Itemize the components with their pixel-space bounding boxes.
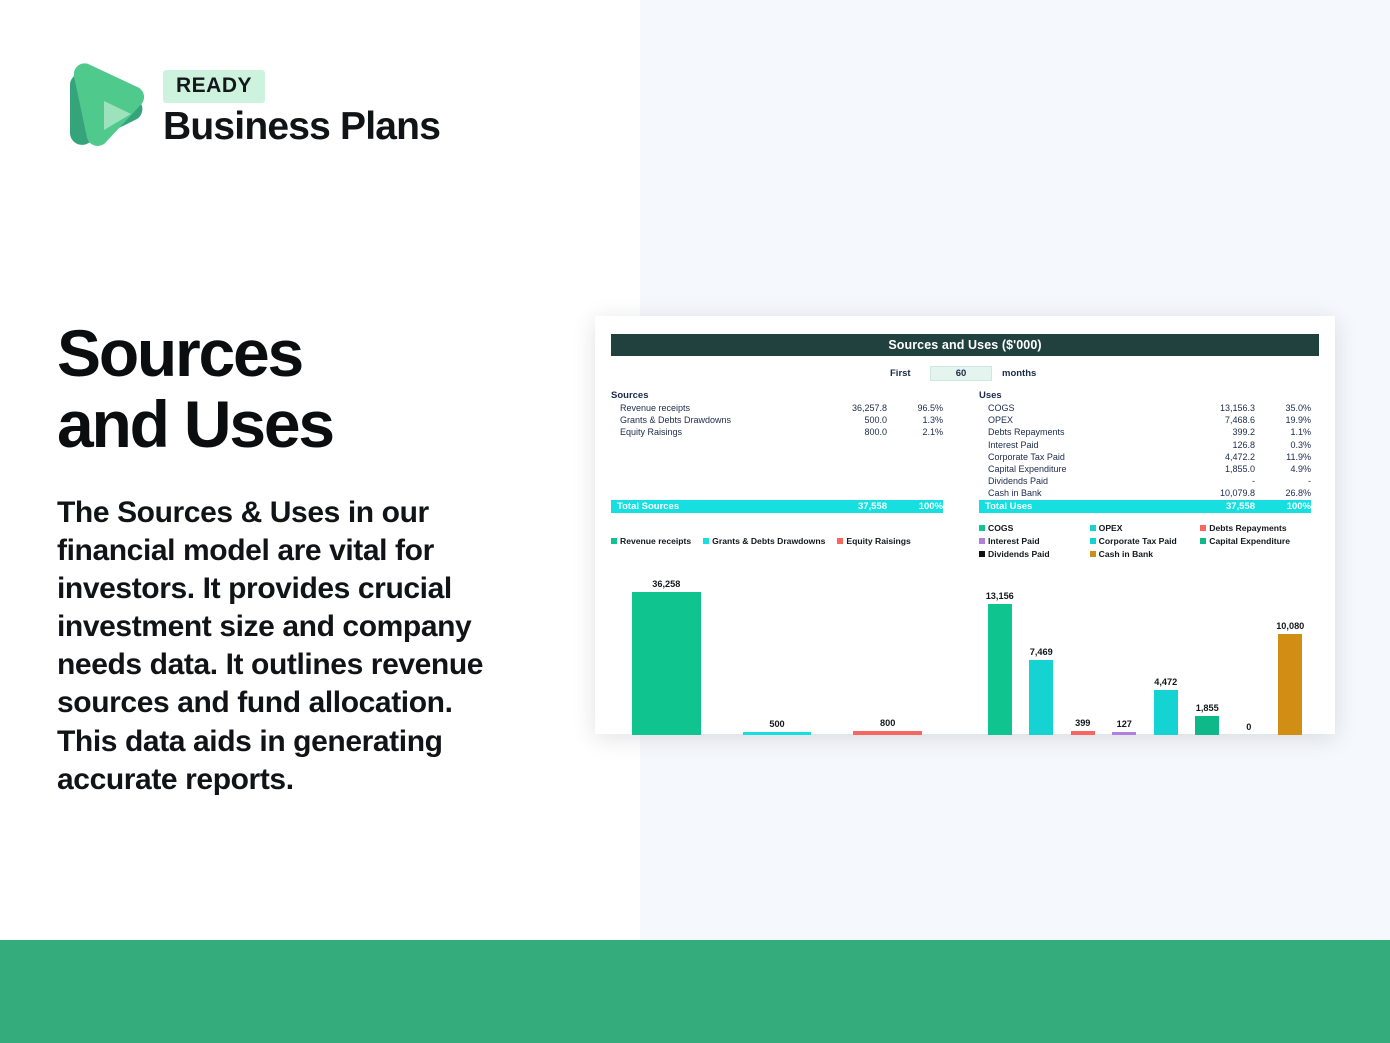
table-row: Capital Expenditure 1,855.0 4.9% (979, 463, 1311, 475)
legend-item: Dividends Paid (979, 548, 1090, 561)
row-percent: 96.5% (887, 402, 943, 414)
legend-swatch-icon (611, 538, 617, 544)
row-percent: 11.9% (1255, 451, 1311, 463)
row-label: Corporate Tax Paid (979, 451, 1181, 463)
row-percent: 19.9% (1255, 414, 1311, 426)
legend-swatch-icon (1090, 538, 1096, 544)
row-percent: 4.9% (1255, 463, 1311, 475)
legend-label: Equity Raisings (846, 535, 910, 548)
bar-value-label: 4,472 (1154, 677, 1177, 687)
bar-value-label: 399 (1075, 718, 1090, 728)
table-row: Cash in Bank 10,079.8 26.8% (979, 487, 1311, 499)
legend-item: COGS (979, 522, 1090, 535)
bar-column: 10,080 (1270, 579, 1312, 735)
bar-value-label: 36,258 (652, 579, 680, 589)
bar-column: 4,472 (1145, 579, 1187, 735)
bar (988, 604, 1012, 735)
bar-value-label: 7,469 (1030, 647, 1053, 657)
sources-table: Sources Revenue receipts 36,257.8 96.5% … (611, 390, 943, 513)
legend-label: Dividends Paid (988, 548, 1050, 561)
bar-column: 13,156 (979, 579, 1021, 735)
bar (632, 592, 701, 735)
legend-item: Cash in Bank (1090, 548, 1201, 561)
row-value: 126.8 (1181, 439, 1255, 451)
total-percent: 100% (1255, 500, 1311, 513)
legend-item: Equity Raisings (837, 522, 910, 561)
bar-column: 0 (1228, 579, 1270, 735)
table-spacer (611, 439, 943, 451)
total-label: Total Sources (611, 500, 813, 513)
uses-plot-area: 13,1567,4693991274,4721,855010,080 (979, 579, 1311, 735)
row-percent: 1.1% (1255, 426, 1311, 438)
bar (1071, 731, 1095, 735)
legend-item: Capital Expenditure (1200, 535, 1311, 548)
legend-label: Debts Repayments (1209, 522, 1286, 535)
bar (1278, 634, 1302, 734)
table-row: Corporate Tax Paid 4,472.2 11.9% (979, 451, 1311, 463)
page-headline: Sourcesand Uses (57, 318, 577, 459)
bar-column: 399 (1062, 579, 1104, 735)
bar-value-label: 800 (880, 718, 895, 728)
uses-bar-chart: 13,1567,4693991274,4721,855010,080 (979, 565, 1311, 743)
legend-label: Cash in Bank (1099, 548, 1153, 561)
brand-logo: READY Business Plans (57, 57, 440, 157)
legend-swatch-icon (979, 525, 985, 531)
row-value: 13,156.3 (1181, 402, 1255, 414)
bar (1112, 732, 1136, 735)
table-spacer (611, 451, 943, 463)
total-value: 37,558 (1181, 500, 1255, 513)
row-value: 500.0 (813, 414, 887, 426)
bar-column: 500 (722, 579, 833, 735)
row-label: Grants & Debts Drawdowns (611, 414, 813, 426)
total-percent: 100% (887, 500, 943, 513)
legend-label: COGS (988, 522, 1013, 535)
legend-label: Interest Paid (988, 535, 1040, 548)
legend-item: Grants & Debts Drawdowns (703, 522, 825, 561)
table-spacer (611, 487, 943, 499)
table-row: OPEX 7,468.6 19.9% (979, 414, 1311, 426)
table-row: Interest Paid 126.8 0.3% (979, 439, 1311, 451)
legend-item: Interest Paid (979, 535, 1090, 548)
period-selector[interactable]: First 60 months (595, 366, 1335, 381)
legend-swatch-icon (1200, 538, 1206, 544)
legend-swatch-icon (1090, 551, 1096, 557)
period-prefix-label: First (882, 368, 930, 379)
sources-and-uses-card: Sources and Uses ($'000) First 60 months… (595, 316, 1335, 734)
row-value: 10,079.8 (1181, 487, 1255, 499)
brand-name: Business Plans (163, 107, 440, 148)
row-label: Debts Repayments (979, 426, 1181, 438)
row-label: Interest Paid (979, 439, 1181, 451)
bar (743, 732, 812, 735)
row-percent: - (1255, 475, 1311, 487)
row-value: 36,257.8 (813, 402, 887, 414)
row-value: 399.2 (1181, 426, 1255, 438)
sources-table-body: Revenue receipts 36,257.8 96.5% Grants &… (611, 402, 943, 500)
row-percent: 35.0% (1255, 402, 1311, 414)
row-label: Equity Raisings (611, 426, 813, 438)
table-row: COGS 13,156.3 35.0% (979, 402, 1311, 414)
row-percent: 1.3% (887, 414, 943, 426)
row-value: - (1181, 475, 1255, 487)
bar-value-label: 1,855 (1196, 703, 1219, 713)
bar (1154, 690, 1178, 735)
bar-value-label: 500 (769, 719, 784, 729)
sources-table-heading: Sources (611, 390, 943, 401)
row-percent: 0.3% (1255, 439, 1311, 451)
row-label: Dividends Paid (979, 475, 1181, 487)
bar-column: 127 (1104, 579, 1146, 735)
bar (1029, 660, 1053, 734)
total-label: Total Uses (979, 500, 1181, 513)
table-row: Revenue receipts 36,257.8 96.5% (611, 402, 943, 414)
bar-value-label: 127 (1117, 719, 1132, 729)
legend-label: OPEX (1099, 522, 1123, 535)
legend-swatch-icon (703, 538, 709, 544)
row-value: 7,468.6 (1181, 414, 1255, 426)
bar-column: 7,469 (1021, 579, 1063, 735)
row-label: Revenue receipts (611, 402, 813, 414)
sources-chart-legend: Revenue receiptsGrants & Debts Drawdowns… (611, 522, 943, 561)
bar-value-label: 10,080 (1276, 621, 1304, 631)
table-spacer (611, 475, 943, 487)
bar-column: 800 (832, 579, 943, 735)
charts-row: 36,258500800 13,1567,4693991274,4721,855… (595, 565, 1335, 743)
table-row: Equity Raisings 800.0 2.1% (611, 426, 943, 438)
legend-swatch-icon (1090, 525, 1096, 531)
legend-item: OPEX (1090, 522, 1201, 535)
legend-swatch-icon (979, 538, 985, 544)
play-triangle-logo-icon (57, 57, 149, 157)
row-value: 800.0 (813, 426, 887, 438)
uses-chart-legend: COGSOPEXDebts RepaymentsInterest PaidCor… (979, 522, 1311, 561)
legend-label: Capital Expenditure (1209, 535, 1290, 548)
card-banner-title: Sources and Uses ($'000) (611, 334, 1319, 356)
uses-table-heading: Uses (979, 390, 1311, 401)
row-value: 1,855.0 (1181, 463, 1255, 475)
row-value: 4,472.2 (1181, 451, 1255, 463)
table-row: Debts Repayments 399.2 1.1% (979, 426, 1311, 438)
legend-swatch-icon (1200, 525, 1206, 531)
row-label: OPEX (979, 414, 1181, 426)
period-suffix-label: months (992, 368, 1048, 379)
sources-plot-area: 36,258500800 (611, 579, 943, 735)
bar-value-label: 0 (1246, 722, 1251, 732)
legend-label: Grants & Debts Drawdowns (712, 535, 825, 548)
legends-row: Revenue receiptsGrants & Debts Drawdowns… (595, 522, 1335, 561)
row-label: Cash in Bank (979, 487, 1181, 499)
row-label: COGS (979, 402, 1181, 414)
total-uses-row: Total Uses 37,558 100% (979, 500, 1311, 513)
bar-column: 1,855 (1187, 579, 1229, 735)
table-row: Grants & Debts Drawdowns 500.0 1.3% (611, 414, 943, 426)
table-spacer (611, 463, 943, 475)
hero-paragraph: The Sources & Uses in our financial mode… (57, 494, 504, 799)
legend-label: Corporate Tax Paid (1099, 535, 1177, 548)
period-months-input[interactable]: 60 (930, 366, 992, 381)
legend-swatch-icon (837, 538, 843, 544)
legend-item: Revenue receipts (611, 522, 691, 561)
uses-table: Uses COGS 13,156.3 35.0% OPEX 7,468.6 19… (979, 390, 1311, 513)
ready-badge: READY (163, 70, 265, 103)
legend-item: Debts Repayments (1200, 522, 1311, 535)
bar (1195, 716, 1219, 734)
uses-table-body: COGS 13,156.3 35.0% OPEX 7,468.6 19.9% D… (979, 402, 1311, 500)
table-row: Dividends Paid - - (979, 475, 1311, 487)
total-value: 37,558 (813, 500, 887, 513)
row-label: Capital Expenditure (979, 463, 1181, 475)
legend-label: Revenue receipts (620, 535, 691, 548)
tables-row: Sources Revenue receipts 36,257.8 96.5% … (595, 390, 1335, 513)
row-percent: 26.8% (1255, 487, 1311, 499)
total-sources-row: Total Sources 37,558 100% (611, 500, 943, 513)
legend-item: Corporate Tax Paid (1090, 535, 1201, 548)
bar (853, 731, 922, 734)
bar-value-label: 13,156 (986, 591, 1014, 601)
sources-bar-chart: 36,258500800 (611, 565, 943, 743)
footer-bar (0, 940, 1390, 1043)
legend-swatch-icon (979, 551, 985, 557)
row-percent: 2.1% (887, 426, 943, 438)
bar-column: 36,258 (611, 579, 722, 735)
